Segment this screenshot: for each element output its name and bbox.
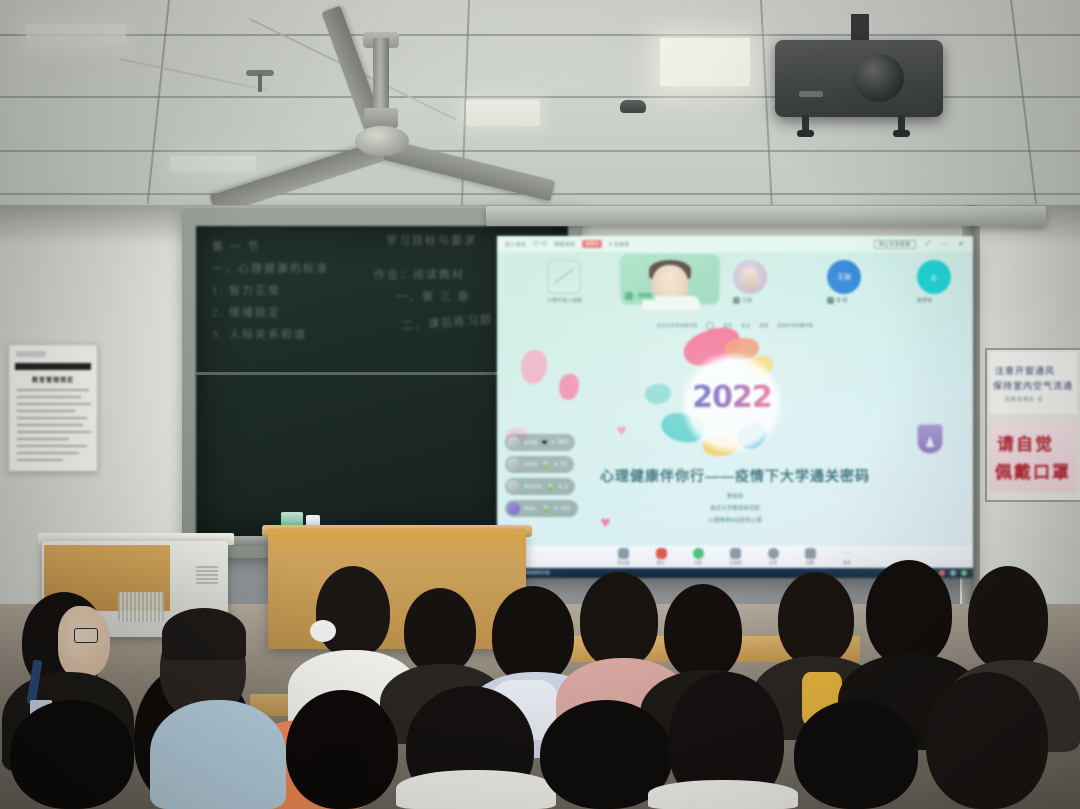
gift-avatar	[507, 458, 520, 471]
toolbar-participants[interactable]: 参会者	[618, 548, 630, 566]
annotate-label[interactable]: 标注	[741, 323, 750, 329]
student-head	[778, 572, 854, 666]
ponytail	[316, 742, 364, 809]
app-titlebar: 加入会议 27:10 网络良好 录制中 4 位成员 停止共享屏幕 ⤢ — ✕	[497, 236, 973, 252]
chalk-text: 2. 情绪稳定	[212, 304, 281, 320]
gift-count: x 161	[554, 505, 571, 512]
participants-count-label[interactable]: 4 位成员	[609, 241, 630, 248]
ceiling-light	[466, 100, 540, 126]
gift-sender: 林涵心	[524, 506, 538, 512]
ceiling-light	[170, 156, 256, 172]
sharing-status-label: 您正在共享屏幕内容	[657, 323, 698, 329]
toolbar-share[interactable]: 共享	[693, 548, 704, 566]
participant-name: 李 明	[827, 297, 861, 304]
avatar	[733, 260, 767, 294]
toolbar-settings[interactable]: 设置	[805, 548, 816, 566]
student-shoulders	[648, 780, 798, 809]
apps-icon	[768, 548, 779, 559]
avatar: 王丽	[827, 260, 861, 294]
end-share-label[interactable]: 结束共享屏幕内容	[777, 323, 813, 329]
minimize-icon[interactable]: —	[941, 241, 948, 248]
record-icon	[730, 548, 741, 559]
toolbar-apps[interactable]: 应用	[768, 548, 779, 566]
console-vent	[118, 592, 164, 622]
meeting-app-window: 加入会议 27:10 网络良好 录制中 4 位成员 停止共享屏幕 ⤢ — ✕ 小…	[497, 236, 973, 578]
speaker-badge: 李明慧	[625, 292, 655, 300]
student-head	[404, 588, 476, 674]
ceiling-seam	[0, 150, 1080, 152]
gift-item: 刘可晴 🍃 x 31	[505, 456, 574, 473]
student-head	[664, 584, 742, 680]
gift-avatar	[507, 502, 520, 515]
student-head-front	[926, 672, 1048, 809]
student-cap	[162, 608, 246, 660]
gift-item: 陈思佳怡 🍃 x 2	[505, 478, 575, 495]
toolbar-more[interactable]: ⋯ 更多	[842, 548, 853, 566]
recording-badge: 录制中	[582, 240, 602, 248]
poster-title: 教室管理规定	[9, 375, 97, 384]
projection-screen-housing	[486, 206, 1046, 226]
stop-share-button[interactable]: 停止共享屏幕	[874, 240, 916, 249]
console-vent	[196, 566, 218, 584]
participant-name: 王晨	[733, 297, 767, 304]
student-head	[316, 566, 390, 658]
ceiling-hook	[258, 74, 262, 92]
gift-sender: 赵明慧	[524, 440, 538, 446]
expand-icon[interactable]: ⤢	[926, 240, 932, 248]
hair-scrunchie	[310, 620, 336, 642]
chalk-text: 一、第 三 章	[396, 288, 471, 304]
notice-line-1: 注意开窗通风	[989, 364, 1080, 377]
chalk-text: 作业：阅读教材	[374, 266, 465, 282]
ceiling-light	[26, 24, 126, 46]
eyeglasses-icon	[74, 628, 98, 643]
student-head-front	[794, 700, 918, 809]
chalk-text: 二、课后练习题	[402, 311, 494, 333]
participant-name: 小明不加入视频	[547, 297, 582, 304]
leaf-icon: 🍃	[546, 483, 555, 491]
student-head	[866, 560, 952, 666]
chalk-text: 一、心理健康的标准	[212, 260, 329, 276]
mic-on-icon	[625, 292, 633, 300]
toolbar-chat[interactable]: 聊天	[656, 548, 667, 566]
wall-notice-poster: 教室管理规定	[8, 344, 98, 472]
gift-feed: 赵明慧 ❤ x 783 刘可晴 🍃 x 31 陈思佳怡 🍃 x 2	[505, 434, 665, 522]
meeting-duration: 27:10	[533, 241, 547, 247]
notice-subtext: 后勤管理处 宣	[989, 396, 1080, 403]
taskbar-icon[interactable]	[961, 570, 967, 576]
student-head	[968, 566, 1048, 670]
avatar: 赵	[917, 260, 951, 294]
student-head	[492, 586, 574, 684]
video-feed: 李明慧	[622, 256, 718, 303]
gift-count: x 2	[559, 483, 568, 490]
gift-count: x 783	[551, 439, 568, 446]
camera-off-icon	[827, 297, 834, 304]
leaf-icon: 🍃	[542, 505, 551, 513]
gift-count: x 31	[554, 461, 567, 468]
network-status: 网络良好	[554, 241, 575, 248]
taskbar-icon[interactable]	[939, 570, 945, 576]
more-icon: ⋯	[842, 548, 853, 559]
mic-muted-icon	[733, 297, 740, 304]
chalk-text: 第 一 节	[212, 238, 261, 254]
mask-line-2: 佩戴口罩	[989, 458, 1080, 483]
gift-item: 林涵心 🍃 x 161	[505, 500, 578, 517]
chalk-text: 学习目标与要求	[386, 232, 477, 248]
close-icon[interactable]: ✕	[958, 240, 964, 248]
poster-bar	[15, 363, 91, 370]
leaf-icon: 🍃	[542, 461, 551, 469]
chalk-text: 3. 人际关系和谐	[212, 326, 307, 342]
gear-icon	[805, 548, 816, 559]
share-icon	[693, 548, 704, 559]
participant-tile-photo[interactable]: 王晨	[733, 260, 767, 304]
slide-year: 2022	[673, 380, 791, 415]
participant-tile-cyan[interactable]: 赵 赵学帅	[917, 260, 951, 304]
gift-avatar	[507, 480, 520, 493]
ventilation-notice: 注意开窗通风 保持室内空气流通 后勤管理处 宣	[989, 352, 1077, 414]
mask-line-1: 请自觉	[989, 430, 1080, 455]
poster-header-chip	[16, 351, 46, 357]
participant-tile-blue[interactable]: 王丽 李 明	[827, 260, 861, 304]
student-shoulders	[396, 770, 556, 809]
gift-sender: 陈思佳怡	[524, 484, 542, 490]
chat-icon	[656, 548, 667, 559]
participant-name: 赵学帅	[917, 297, 951, 304]
student-head-front	[10, 700, 134, 809]
lectern	[268, 529, 526, 649]
ceiling-light	[660, 38, 750, 86]
meeting-info-label[interactable]: 加入会议	[505, 241, 526, 248]
gift-avatar	[507, 436, 520, 449]
classroom-scene: 第 一 节 一、心理健康的标准 1. 智力正常 2. 情绪稳定 3. 人际关系和…	[0, 0, 1080, 809]
participant-tile-ghost[interactable]: 小明不加入视频	[547, 260, 582, 304]
gift-item: 赵明慧 ❤ x 783	[505, 434, 575, 451]
taskbar-icon[interactable]	[950, 570, 956, 576]
participant-strip: 小明不加入视频 李明慧	[497, 256, 973, 318]
chalk-text: 1. 智力正常	[212, 282, 281, 298]
university-crest-icon	[917, 424, 943, 454]
mask-notice: 请自觉 佩戴口罩	[989, 420, 1077, 492]
speaker-name: 李明慧	[635, 292, 655, 300]
smoke-detector-icon	[620, 100, 646, 113]
stop-label[interactable]: 结束	[759, 323, 768, 329]
projection-screen: 加入会议 27:10 网络良好 录制中 4 位成员 停止共享屏幕 ⤢ — ✕ 小…	[497, 236, 973, 578]
people-icon	[618, 548, 629, 559]
ceiling-seam	[0, 34, 1080, 36]
student-shoulders	[150, 700, 286, 809]
camera-off-icon	[547, 260, 581, 294]
heart-icon: ❤	[542, 439, 548, 447]
toolbar-record[interactable]: 云录制	[730, 548, 742, 566]
notice-line-2: 保持室内空气流通	[989, 379, 1080, 392]
participant-tile-active[interactable]: 李明慧	[622, 256, 718, 303]
gift-sender: 刘可晴	[524, 462, 538, 468]
student-head	[580, 572, 658, 668]
